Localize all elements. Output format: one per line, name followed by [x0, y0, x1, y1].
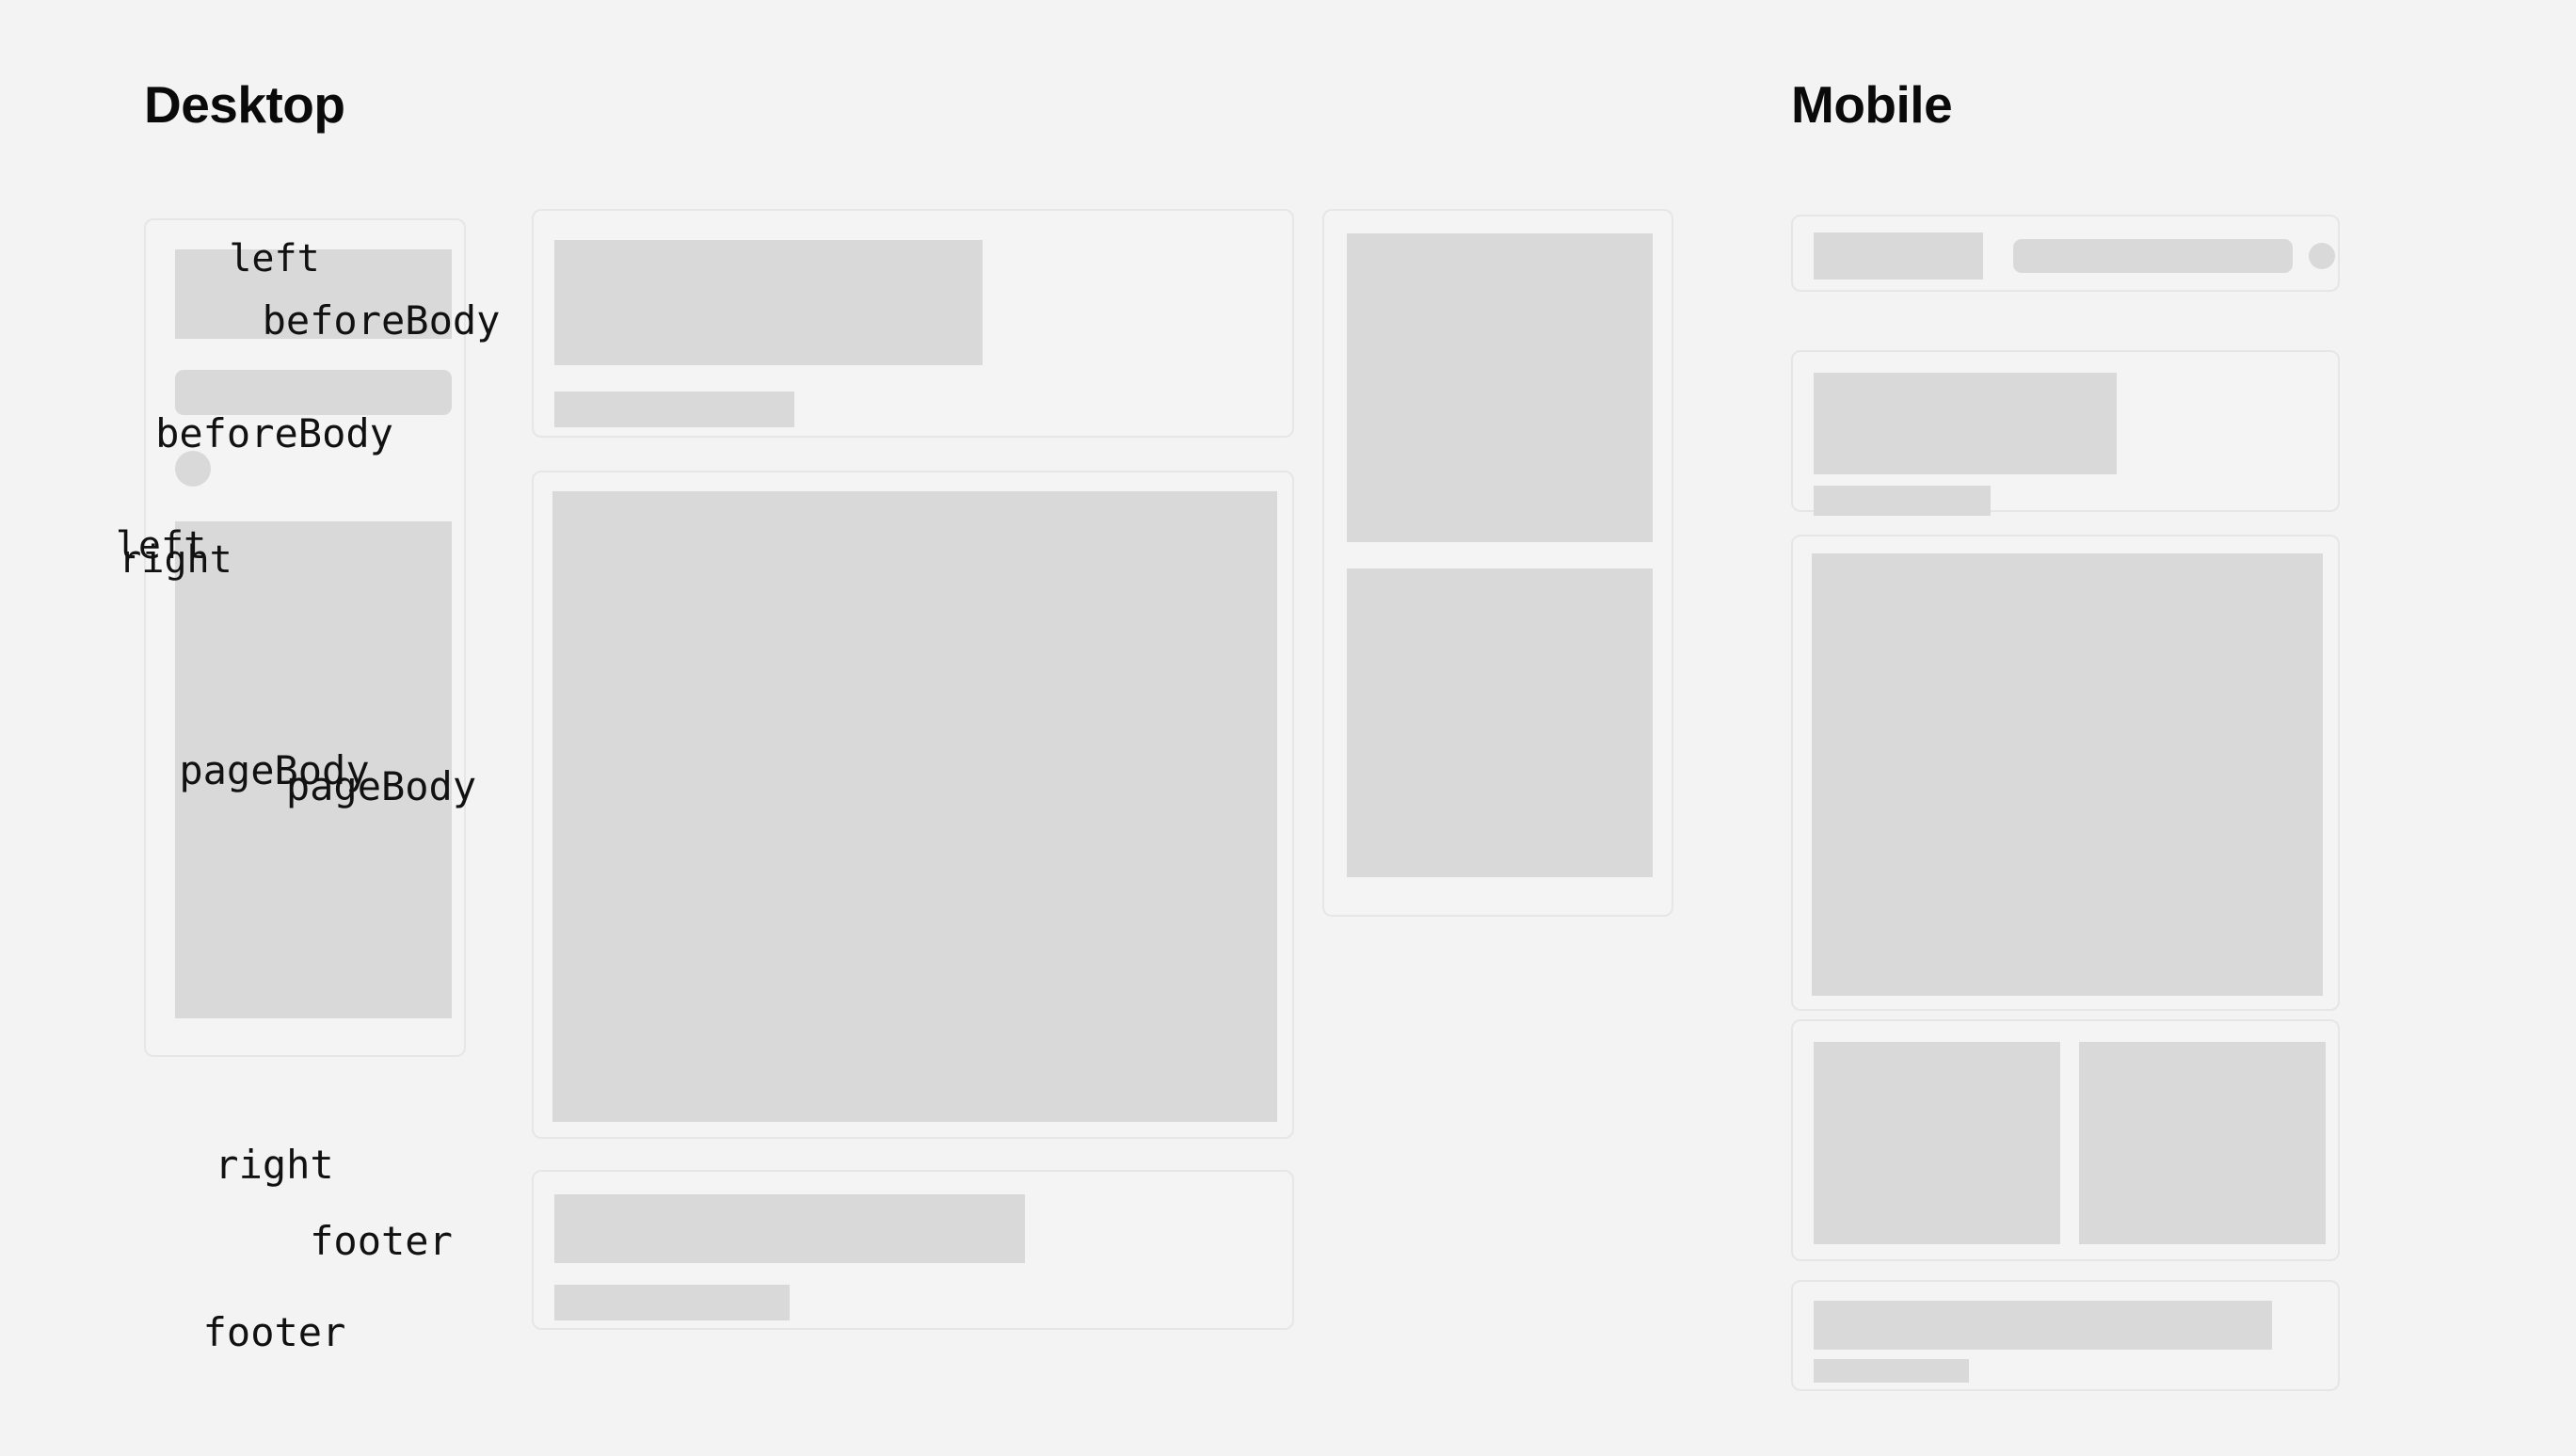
desktop-beforebody-region-label: beforeBody: [0, 301, 762, 341]
mobile-pagebody-region-label: pageBody: [0, 751, 549, 791]
mobile-right-region-label: right: [0, 1145, 549, 1185]
skeleton-bar: [2013, 239, 2293, 273]
mobile-left-region-panel[interactable]: [1791, 215, 2340, 292]
skeleton-block: [1814, 373, 2117, 474]
mobile-footer-region-label: footer: [0, 1313, 549, 1352]
desktop-footer-region-label: footer: [0, 1222, 762, 1261]
mobile-right-region-panel[interactable]: [1791, 1019, 2340, 1261]
skeleton-block: [2079, 1042, 2326, 1244]
mobile-section-title: Mobile: [1791, 79, 1952, 131]
skeleton-bar: [554, 1285, 790, 1320]
desktop-right-region-panel[interactable]: [1322, 209, 1673, 917]
skeleton-block: [552, 491, 1277, 1122]
desktop-section-title: Desktop: [144, 79, 345, 131]
skeleton-block: [1812, 553, 2323, 996]
skeleton-bar: [175, 370, 452, 415]
desktop-left-region-panel[interactable]: [144, 218, 466, 1057]
mobile-left-region-label: left: [0, 240, 549, 278]
wireframe-canvas: Desktop left beforeBody pageBody footer …: [0, 0, 2576, 1456]
skeleton-block: [1347, 568, 1653, 877]
skeleton-block: [1814, 232, 1983, 280]
skeleton-bar: [1814, 486, 1991, 516]
mobile-beforebody-region-label: beforeBody: [0, 414, 549, 454]
skeleton-bar: [1814, 1359, 1969, 1383]
skeleton-avatar-circle: [2309, 243, 2335, 269]
skeleton-block: [1814, 1301, 2272, 1350]
mobile-pagebody-region-panel[interactable]: [1791, 535, 2340, 1011]
desktop-right-region-label: right: [0, 541, 351, 579]
mobile-beforebody-region-panel[interactable]: [1791, 350, 2340, 512]
skeleton-block: [1814, 1042, 2060, 1244]
skeleton-bar: [554, 392, 794, 427]
mobile-footer-region-panel[interactable]: [1791, 1280, 2340, 1391]
skeleton-block: [1347, 233, 1653, 542]
